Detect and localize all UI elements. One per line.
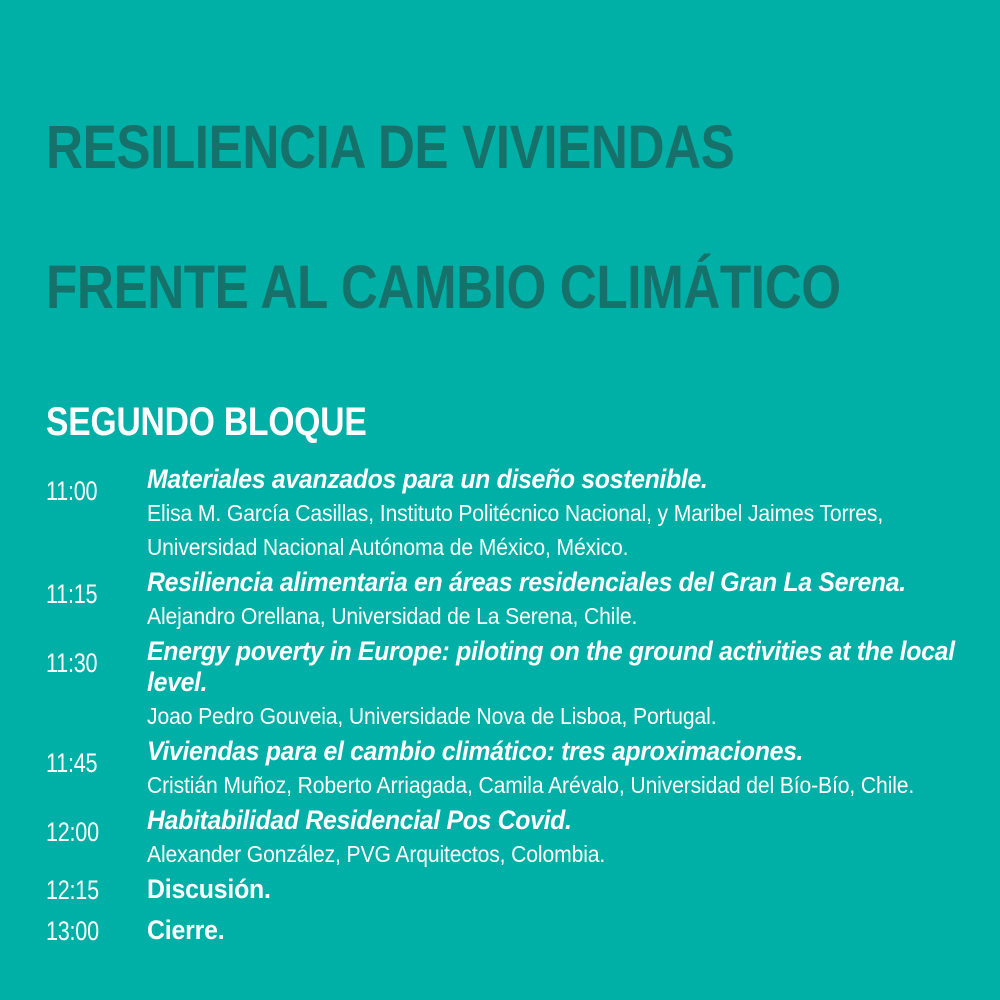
block-label: SEGUNDO BLOQUE [46, 400, 960, 444]
session-title: Resiliencia alimentaria en áreas residen… [147, 567, 960, 598]
session-title: Discusión. [147, 874, 960, 905]
schedule-item: 12:00 Habitabilidad Residencial Pos Covi… [46, 805, 960, 871]
session-speakers: Alexander González, PVG Arquitectos, Col… [147, 837, 959, 871]
schedule-item: 13:00 Cierre. [46, 915, 960, 946]
session-body: Habitabilidad Residencial Pos Covid. Ale… [146, 805, 960, 871]
schedule-item: 12:15 Discusión. [46, 874, 960, 905]
session-body: Cierre. [146, 915, 960, 946]
session-title: Materiales avanzados para un diseño sost… [147, 464, 960, 495]
session-body: Resiliencia alimentaria en áreas residen… [146, 567, 960, 633]
session-title: Energy poverty in Europe: piloting on th… [147, 636, 960, 698]
session-body: Energy poverty in Europe: piloting on th… [146, 636, 960, 733]
schedule-item: 11:30 Energy poverty in Europe: piloting… [46, 636, 960, 733]
session-speakers: Alejandro Orellana, Universidad de La Se… [147, 599, 959, 633]
session-title: Cierre. [147, 915, 960, 946]
page-title-line-2: FRENTE AL CAMBIO CLIMÁTICO [46, 252, 960, 322]
session-speakers: Cristián Muñoz, Roberto Arriagada, Camil… [147, 768, 959, 802]
session-time: 12:00 [46, 805, 126, 847]
session-title: Viviendas para el cambio climático: tres… [147, 736, 960, 767]
schedule-item: 11:45 Viviendas para el cambio climático… [46, 736, 960, 802]
session-time: 13:00 [46, 916, 126, 946]
session-body: Materiales avanzados para un diseño sost… [146, 464, 960, 564]
page-title-line-1: RESILIENCIA DE VIVIENDAS [46, 112, 960, 182]
schedule-list: 11:00 Materiales avanzados para un diseñ… [46, 464, 960, 946]
session-time: 12:15 [46, 875, 126, 905]
session-body: Discusión. [146, 874, 960, 905]
schedule-item: 11:00 Materiales avanzados para un diseñ… [46, 464, 960, 564]
session-title: Habitabilidad Residencial Pos Covid. [147, 805, 960, 836]
session-time: 11:30 [46, 636, 126, 678]
poster-canvas: RESILIENCIA DE VIVIENDAS FRENTE AL CAMBI… [0, 0, 1000, 1000]
session-time: 11:45 [46, 736, 126, 778]
session-speakers: Joao Pedro Gouveia, Universidade Nova de… [147, 699, 959, 733]
session-time: 11:15 [46, 567, 126, 609]
session-time: 11:00 [46, 464, 126, 506]
session-body: Viviendas para el cambio climático: tres… [146, 736, 960, 802]
page-title: RESILIENCIA DE VIVIENDAS FRENTE AL CAMBI… [46, 0, 960, 392]
session-speakers: Elisa M. García Casillas, Instituto Poli… [147, 496, 959, 564]
schedule-item: 11:15 Resiliencia alimentaria en áreas r… [46, 567, 960, 633]
